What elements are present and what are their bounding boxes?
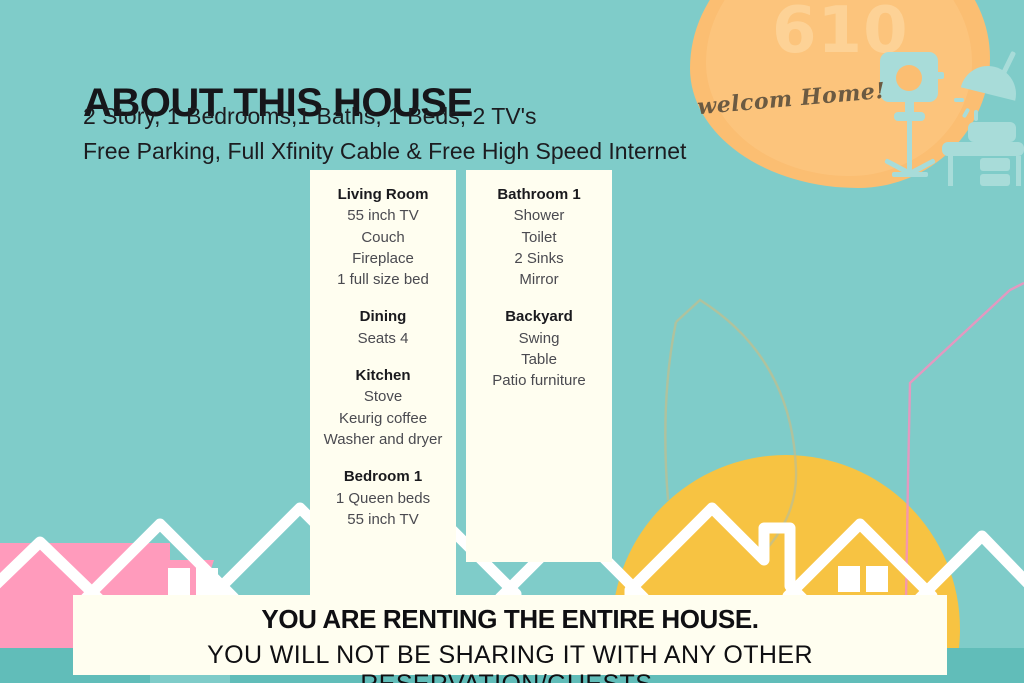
section-item: Keurig coffee xyxy=(310,408,456,429)
section-title: Backyard xyxy=(466,306,612,327)
section-kitchen: Kitchen Stove Keurig coffee Washer and d… xyxy=(310,365,456,450)
section-dining: Dining Seats 4 xyxy=(310,306,456,349)
section-item: Washer and dryer xyxy=(310,429,456,450)
page-subtitle-line-1: 2 Story, 1 Bedrooms,1 Baths, 1 Beds, 2 T… xyxy=(83,103,537,130)
poster-canvas: 610 welcom Home! xyxy=(0,0,1024,683)
section-living-room: Living Room 55 inch TV Couch Fireplace 1… xyxy=(310,184,456,290)
desk-lamp-icon xyxy=(942,51,1024,186)
section-item: Mirror xyxy=(466,269,612,290)
section-bedroom-1: Bedroom 1 1 Queen beds 55 inch TV xyxy=(310,466,456,530)
section-title: Dining xyxy=(310,306,456,327)
banner-headline: YOU ARE RENTING THE ENTIRE HOUSE. xyxy=(73,604,947,635)
section-title: Bathroom 1 xyxy=(466,184,612,205)
section-item: Seats 4 xyxy=(310,328,456,349)
section-bathroom-1: Bathroom 1 Shower Toilet 2 Sinks Mirror xyxy=(466,184,612,290)
section-item: 1 Queen beds xyxy=(310,488,456,509)
section-title: Living Room xyxy=(310,184,456,205)
left-amenities-card: Living Room 55 inch TV Couch Fireplace 1… xyxy=(310,170,456,608)
section-item: 55 inch TV xyxy=(310,509,456,530)
blob-number-watermark: 610 xyxy=(772,0,909,68)
section-title: Bedroom 1 xyxy=(310,466,456,487)
right-amenities-card: Bathroom 1 Shower Toilet 2 Sinks Mirror … xyxy=(466,170,612,562)
section-item: Patio furniture xyxy=(466,370,612,391)
section-item: Shower xyxy=(466,205,612,226)
page-subtitle-line-2: Free Parking, Full Xfinity Cable & Free … xyxy=(83,138,686,165)
entire-house-banner: YOU ARE RENTING THE ENTIRE HOUSE. YOU WI… xyxy=(73,595,947,675)
section-item: Swing xyxy=(466,328,612,349)
welcome-script-text: welcom Home! xyxy=(696,78,886,120)
studio-camera-icon xyxy=(880,52,944,177)
section-item: Toilet xyxy=(466,227,612,248)
section-item: 1 full size bed xyxy=(310,269,456,290)
section-item: 55 inch TV xyxy=(310,205,456,226)
section-item: Fireplace xyxy=(310,248,456,269)
section-backyard: Backyard Swing Table Patio furniture xyxy=(466,306,612,391)
section-item: Table xyxy=(466,349,612,370)
section-title: Kitchen xyxy=(310,365,456,386)
section-item: 2 Sinks xyxy=(466,248,612,269)
section-item: Stove xyxy=(310,386,456,407)
house-window-icon xyxy=(168,566,888,596)
section-item: Couch xyxy=(310,227,456,248)
banner-subtext: YOU WILL NOT BE SHARING IT WITH ANY OTHE… xyxy=(73,641,947,683)
